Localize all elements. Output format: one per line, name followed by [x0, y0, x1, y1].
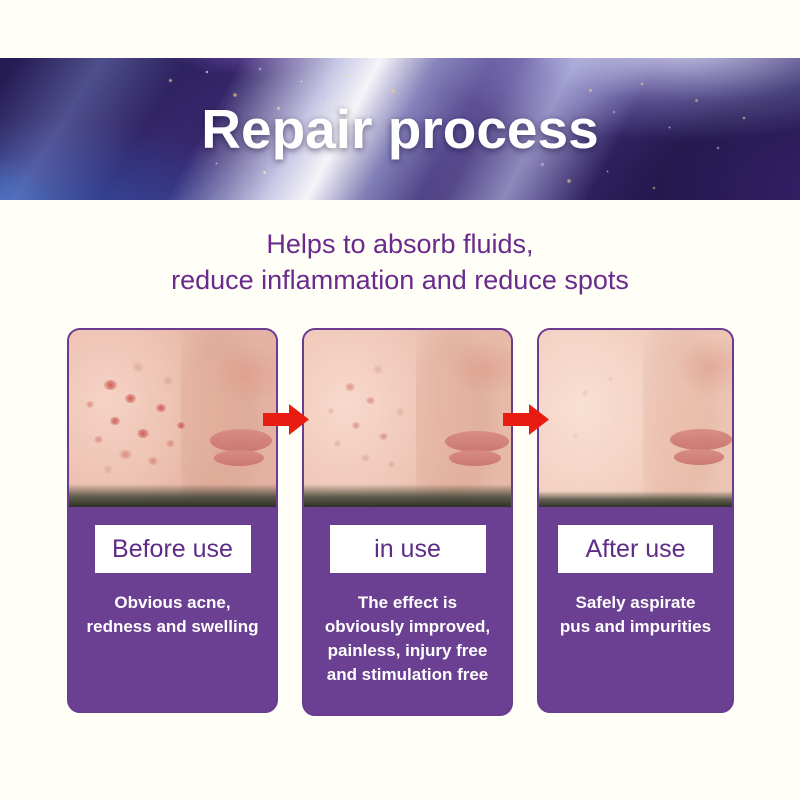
step-card-in-use: in use The effect is obviously improved,…: [302, 328, 513, 716]
step-card-after-use: After use Safely aspirate pus and impuri…: [537, 328, 734, 713]
step-label-badge: After use: [558, 525, 713, 573]
photo-cheek-with-improving-acne: [304, 330, 511, 507]
description-line: redness and swelling: [75, 615, 270, 639]
step-description: Safely aspirate pus and impurities: [539, 591, 732, 639]
description-line: and stimulation free: [310, 663, 505, 687]
step-label-badge: Before use: [95, 525, 251, 573]
step-label-text: After use: [585, 535, 685, 564]
card-body: After use Safely aspirate pus and impuri…: [539, 507, 732, 639]
arrow-right-icon: [263, 404, 309, 435]
step-label-badge: in use: [330, 525, 486, 573]
step-description: Obvious acne, redness and swelling: [69, 591, 276, 639]
description-line: obviously improved,: [310, 615, 505, 639]
subtitle: Helps to absorb fluids, reduce inflammat…: [0, 226, 800, 298]
description-line: pus and impurities: [545, 615, 726, 639]
arrow-right-icon: [503, 404, 549, 435]
step-description: The effect is obviously improved, painle…: [304, 591, 511, 687]
card-body: in use The effect is obviously improved,…: [304, 507, 511, 687]
description-line: The effect is: [310, 591, 505, 615]
step-label-text: Before use: [112, 535, 233, 564]
page-title: Repair process: [0, 58, 800, 200]
step-card-before-use: Before use Obvious acne, redness and swe…: [67, 328, 278, 713]
step-label-text: in use: [374, 535, 441, 564]
photo-clear-smooth-cheek: [539, 330, 732, 507]
subtitle-line-2: reduce inflammation and reduce spots: [0, 262, 800, 298]
card-body: Before use Obvious acne, redness and swe…: [69, 507, 276, 639]
photo-cheek-with-severe-acne: [69, 330, 276, 507]
description-line: Obvious acne,: [75, 591, 270, 615]
subtitle-line-1: Helps to absorb fluids,: [0, 226, 800, 262]
header-banner: Repair process: [0, 58, 800, 200]
description-line: painless, injury free: [310, 639, 505, 663]
description-line: Safely aspirate: [545, 591, 726, 615]
